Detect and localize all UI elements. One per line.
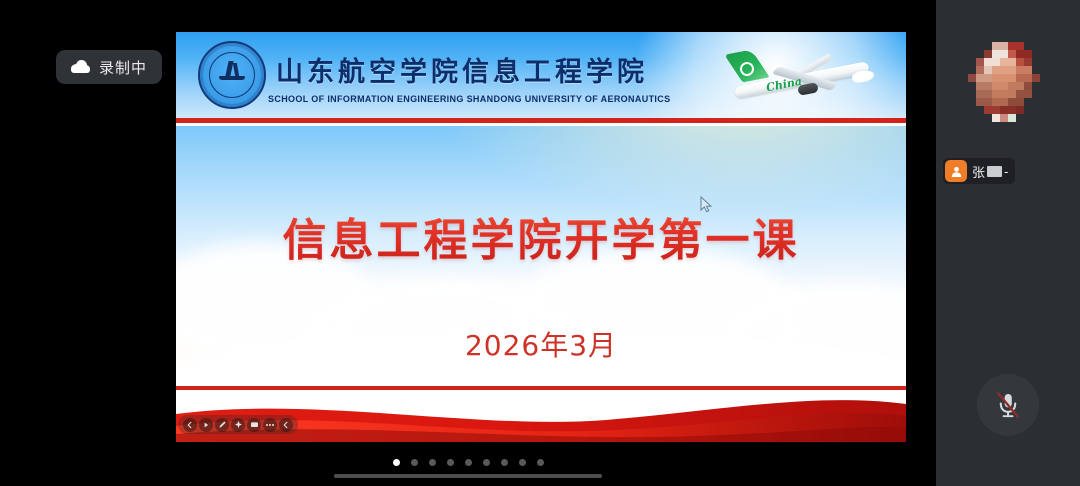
microphone-muted-icon[interactable] xyxy=(977,374,1039,436)
slide-toolbar[interactable] xyxy=(178,415,298,434)
pagination-dot[interactable] xyxy=(501,459,508,466)
school-title-en: SCHOOL OF INFORMATION ENGINEERING SHANDO… xyxy=(268,94,671,104)
redacted-name-block xyxy=(987,166,1002,177)
pagination-dot[interactable] xyxy=(447,459,454,466)
slide-date: 2026年3月 xyxy=(176,324,906,364)
horizontal-scrollbar[interactable] xyxy=(0,474,936,478)
slide-pagination[interactable] xyxy=(0,459,936,466)
pagination-dot[interactable] xyxy=(411,459,418,466)
scrollbar-thumb[interactable] xyxy=(334,474,602,478)
pagination-dot[interactable] xyxy=(537,459,544,466)
cloud-icon xyxy=(71,61,90,73)
laser-pointer-button[interactable] xyxy=(231,418,245,432)
slide-header-band: 山东航空学院信息工程学院 SCHOOL OF INFORMATION ENGIN… xyxy=(176,32,906,118)
participant-name-text: 张 xyxy=(972,162,985,181)
participant-rail: 张 - xyxy=(936,0,1080,486)
pagination-dot[interactable] xyxy=(429,459,436,466)
slide-title: 信息工程学院开学第一课 xyxy=(176,204,906,268)
meeting-window: 山东航空学院信息工程学院 SCHOOL OF INFORMATION ENGIN… xyxy=(0,0,1080,486)
pagination-dot[interactable] xyxy=(465,459,472,466)
header-divider-rule xyxy=(176,118,906,123)
play-button[interactable] xyxy=(199,418,213,432)
crest-emblem-icon xyxy=(219,61,245,83)
screen-share-button[interactable] xyxy=(247,418,261,432)
school-title-cn: 山东航空学院信息工程学院 xyxy=(276,50,648,89)
presentation-slide[interactable]: 山东航空学院信息工程学院 SCHOOL OF INFORMATION ENGIN… xyxy=(176,32,906,442)
participant-name-suffix: - xyxy=(1004,164,1008,179)
pagination-dot[interactable] xyxy=(483,459,490,466)
participant-name: 张 - xyxy=(972,162,1008,181)
recording-label: 录制中 xyxy=(99,57,147,78)
more-options-button[interactable] xyxy=(263,418,277,432)
shared-screen-stage[interactable]: 山东航空学院信息工程学院 SCHOOL OF INFORMATION ENGIN… xyxy=(0,0,936,486)
participant-tile[interactable]: 张 - xyxy=(936,0,1080,208)
prev-slide-button[interactable] xyxy=(183,418,197,432)
pagination-dot[interactable] xyxy=(393,459,400,466)
pagination-dot[interactable] xyxy=(519,459,526,466)
pen-tool-button[interactable] xyxy=(215,418,229,432)
mouse-cursor xyxy=(700,196,713,214)
avatar xyxy=(960,34,1056,130)
participant-name-badge: 张 - xyxy=(943,158,1015,184)
person-icon xyxy=(945,160,967,182)
university-crest-logo xyxy=(198,41,266,109)
collapse-toolbar-button[interactable] xyxy=(279,418,293,432)
recording-badge: 录制中 xyxy=(56,50,162,84)
airplane-icon: China xyxy=(726,44,878,106)
